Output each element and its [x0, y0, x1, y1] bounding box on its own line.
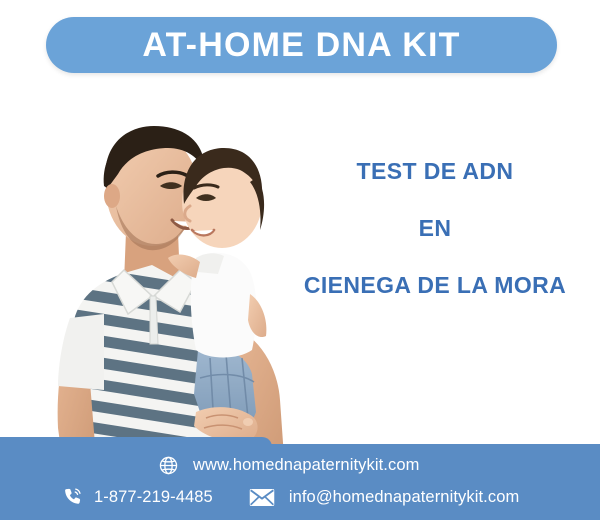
globe-icon [158, 455, 179, 476]
poster-canvas: AT-HOME DNA KIT [0, 0, 600, 520]
headings-block: TEST DE ADN EN CIENEGA DE LA MORA [285, 160, 585, 297]
heading-line-2: EN [285, 217, 585, 240]
heading-line-3: CIENEGA DE LA MORA [285, 274, 585, 297]
heading-line-1: TEST DE ADN [285, 160, 585, 183]
phone-icon [62, 486, 84, 508]
footer-website-row[interactable]: www.homednapaternitykit.com [158, 455, 419, 476]
footer-phone-text[interactable]: 1-877-219-4485 [94, 488, 213, 507]
footer-website-text[interactable]: www.homednapaternitykit.com [193, 456, 419, 475]
envelope-icon [249, 488, 275, 507]
footer-contact-row: 1-877-219-4485 info@homednapaternitykit.… [62, 486, 519, 508]
banner-pill: AT-HOME DNA KIT [46, 17, 557, 73]
father-and-child-photo [0, 82, 330, 457]
footer-email-text[interactable]: info@homednapaternitykit.com [289, 488, 520, 507]
banner-title: AT-HOME DNA KIT [142, 28, 460, 62]
